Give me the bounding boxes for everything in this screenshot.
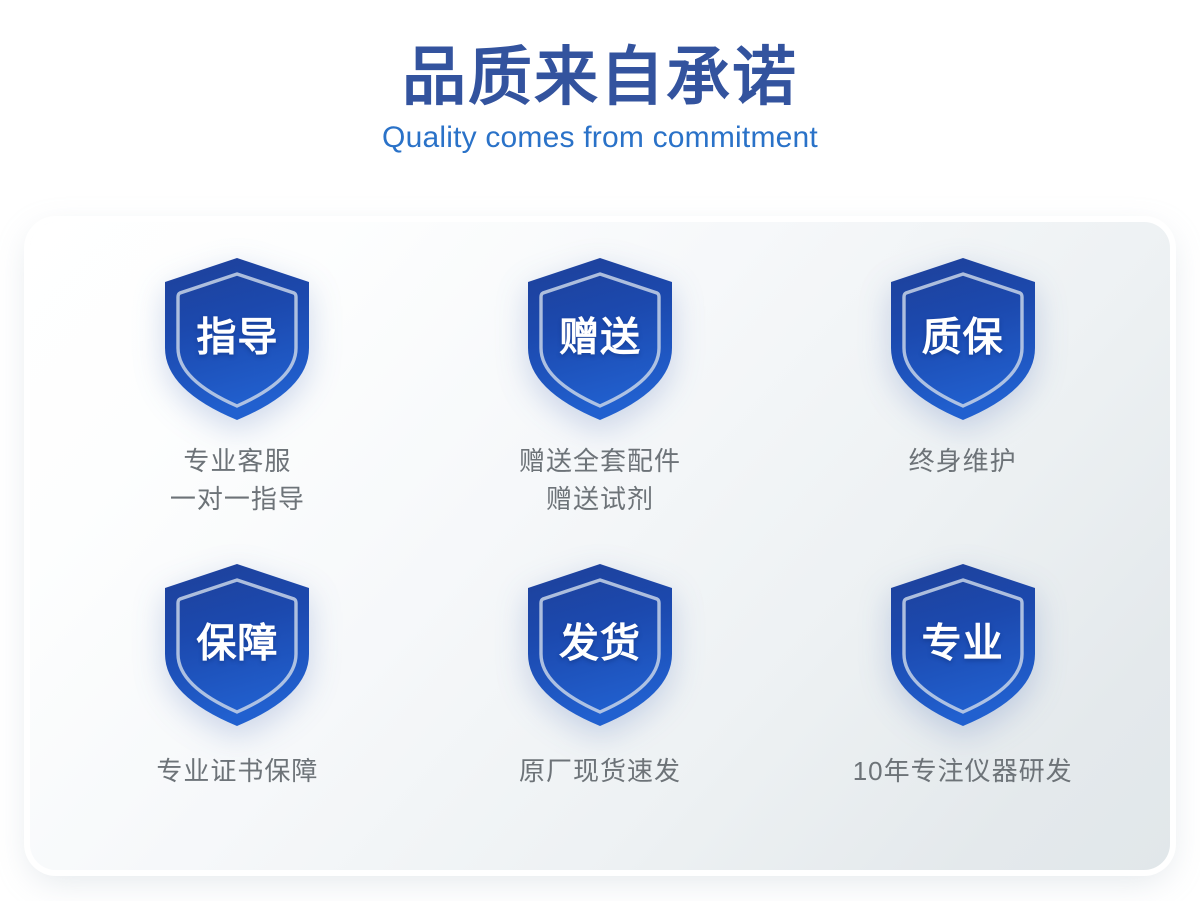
features-card: 指导 专业客服 一对一指导 <box>30 222 1170 870</box>
shield-icon: 赠送 <box>520 256 680 422</box>
features-grid: 指导 专业客服 一对一指导 <box>30 222 1170 870</box>
shield-icon: 质保 <box>883 256 1043 422</box>
shield-icon: 专业 <box>883 562 1043 728</box>
feature-caption: 10年专注仪器研发 <box>853 752 1073 790</box>
shield-icon: 保障 <box>157 562 317 728</box>
feature-caption: 专业证书保障 <box>156 752 318 790</box>
feature-item: 保障 专业证书保障 <box>56 548 419 840</box>
feature-item: 质保 终身维护 <box>781 256 1144 548</box>
shield-icon: 指导 <box>157 256 317 422</box>
feature-caption: 原厂现货速发 <box>519 752 681 790</box>
feature-item: 赠送 赠送全套配件 赠送试剂 <box>419 256 782 548</box>
feature-caption: 专业客服 一对一指导 <box>170 442 305 519</box>
promo-banner: 品质来自承诺 Quality comes from commitment <box>0 0 1200 901</box>
feature-item: 指导 专业客服 一对一指导 <box>56 256 419 548</box>
page-subtitle: Quality comes from commitment <box>0 120 1200 156</box>
feature-caption: 赠送全套配件 赠送试剂 <box>519 442 681 519</box>
header: 品质来自承诺 Quality comes from commitment <box>0 42 1200 156</box>
page-title: 品质来自承诺 <box>0 42 1200 114</box>
feature-caption: 终身维护 <box>909 442 1017 480</box>
feature-item: 发货 原厂现货速发 <box>419 548 782 840</box>
feature-item: 专业 10年专注仪器研发 <box>781 548 1144 840</box>
shield-icon: 发货 <box>520 562 680 728</box>
